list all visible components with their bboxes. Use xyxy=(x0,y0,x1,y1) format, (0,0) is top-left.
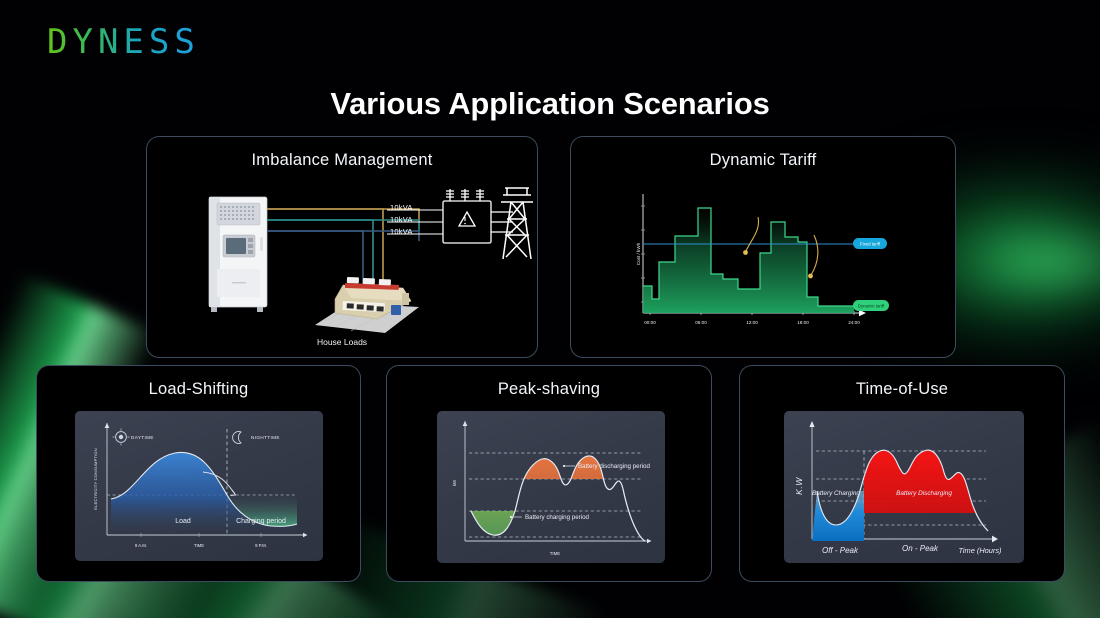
card-peak-shaving[interactable]: Peak-shaving xyxy=(386,365,712,582)
nighttime-label: NIGHTTIME xyxy=(251,435,280,440)
tariff-xtick-4: 24:00 xyxy=(848,320,860,325)
charging-region-label: Charging period xyxy=(236,518,286,525)
tou-charging-label: Battery Charging xyxy=(812,490,860,497)
transmission-pylon-icon xyxy=(501,188,533,259)
house-loads-icon xyxy=(307,263,437,343)
card-title-tou: Time-of-Use xyxy=(740,380,1064,399)
moon-icon xyxy=(233,432,241,444)
card-load-shifting[interactable]: Load-Shifting xyxy=(36,365,361,582)
tariff-xtick-0: 00:00 xyxy=(644,320,656,325)
charge-annotation: Battery charging period xyxy=(525,514,590,521)
daytime-label: DAYTIME xyxy=(131,435,154,440)
tou-ylabel: K.W xyxy=(794,477,804,495)
card-dynamic-tariff[interactable]: Dynamic Tariff xyxy=(570,136,956,358)
load-xtick-1: TIME xyxy=(194,543,204,548)
sun-icon xyxy=(113,429,130,446)
card-title-imbalance: Imbalance Management xyxy=(147,151,537,170)
load-ylabel: ELECTRICITY CONSUMPTION xyxy=(93,448,98,510)
tou-xlabel: Time (Hours) xyxy=(958,546,1002,555)
tariff-xtick-1: 06:00 xyxy=(695,320,707,325)
svg-text:Fixed tariff: Fixed tariff xyxy=(860,242,881,247)
card-title-load: Load-Shifting xyxy=(37,380,360,399)
tou-onpeak-label: On - Peak xyxy=(902,544,939,553)
load-shifting-chart: ELECTRICITY CONSUMPTION xyxy=(75,411,323,561)
peak-shaving-chart: kW Battery discharging period xyxy=(437,411,665,563)
tariff-ylabel: Cost / kWh xyxy=(636,242,641,265)
tariff-xtick-3: 18:00 xyxy=(797,320,809,325)
time-of-use-chart: K.W Battery Charging Battery Discharging… xyxy=(784,411,1024,563)
cable-label-1: 10kVA xyxy=(390,203,413,212)
card-title-tariff: Dynamic Tariff xyxy=(571,151,955,170)
transformer-icon xyxy=(443,189,491,243)
page-title: Various Application Scenarios xyxy=(0,86,1100,122)
price-drop-arrow-2 xyxy=(811,235,818,275)
cable-label-2: 10kVA xyxy=(390,215,413,224)
tariff-xtick-2: 12:00 xyxy=(746,320,758,325)
house-loads-label: House Loads xyxy=(147,337,537,347)
card-title-peak: Peak-shaving xyxy=(387,380,711,399)
dynamic-tariff-chart: Cost / kWh 00:00 06:00 12:00 18:00 24:00… xyxy=(571,182,956,357)
badge-fixed-tariff: Fixed tariff xyxy=(853,238,887,249)
brand-logo: DYNESS xyxy=(47,22,200,62)
price-drop-arrow-1 xyxy=(746,217,759,251)
tou-charging-area xyxy=(812,491,864,541)
load-xtick-0: 9 A.M. xyxy=(135,543,147,548)
load-region-label: Load xyxy=(175,518,191,525)
tou-discharging-label: Battery Discharging xyxy=(896,490,952,497)
svg-text:Dynamic tariff: Dynamic tariff xyxy=(858,304,885,309)
peak-xlabel: TIME xyxy=(550,551,561,556)
badge-dynamic-tariff: Dynamic tariff xyxy=(853,300,889,311)
load-xtick-2: 9 P.M. xyxy=(255,543,267,548)
battery-cabinet-icon xyxy=(209,197,267,312)
card-imbalance-management[interactable]: Imbalance Management xyxy=(146,136,538,358)
slide-canvas: DYNESS Various Application Scenarios Imb… xyxy=(0,0,1100,618)
warning-triangle-icon xyxy=(459,212,475,226)
peak-ylabel: kW xyxy=(452,479,457,486)
cable-label-3: 10kVA xyxy=(390,227,413,236)
tou-offpeak-label: Off - Peak xyxy=(822,546,859,555)
card-time-of-use[interactable]: Time-of-Use xyxy=(739,365,1065,582)
discharge-annotation: Battery discharging period xyxy=(578,463,650,470)
